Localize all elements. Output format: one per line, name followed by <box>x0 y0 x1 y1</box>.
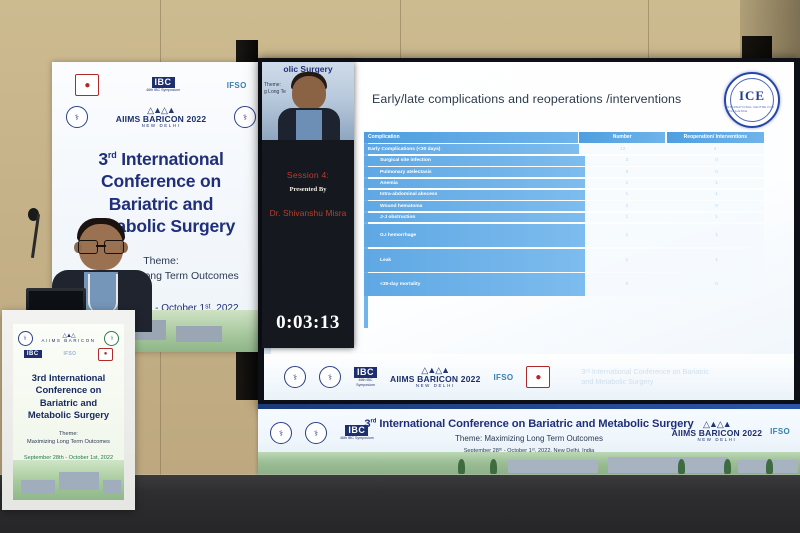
presenter-camera-feed: olic Surgery Theme: g Long Te <box>262 62 354 140</box>
aiims-logo-sub: NEW DELHI <box>142 124 181 129</box>
banner-right-logos: △▲△▲ AIIMS BARICON 2022 NEW DELHI IFSO <box>672 420 790 443</box>
speaker-glasses <box>78 240 124 252</box>
table-cell-reoperation: 0 <box>669 201 764 211</box>
table-cell-complication: Surgical site infection <box>364 156 585 166</box>
table-cell-complication: J-J obstruction <box>364 213 585 223</box>
presenter-head <box>292 76 326 110</box>
obesity-society-logo: ⚕ <box>284 366 306 388</box>
table-header-reoperation: Reoperation/ Interventions <box>667 132 764 143</box>
table-cell-complication: Pulmonary atelectasis <box>364 167 585 177</box>
table-cell-complication: <30-day mortality <box>364 273 585 296</box>
complications-table: Complication Number Reoperation/ Interve… <box>364 132 764 298</box>
table-row: <30-day mortality00 <box>364 273 764 296</box>
aiims-baricon-logo: △▲△▲ AIIMS BARICON 2022 NEW DELHI <box>390 366 481 389</box>
table-cell-reoperation: 1 <box>669 249 764 272</box>
backdrop-logo-row-2: ⚕ △▲△▲ AIIMS BARICON 2022 NEW DELHI ⚕ <box>52 102 270 132</box>
table-cell-reoperation: 0 <box>669 167 764 177</box>
table-cell-reoperation: 0 <box>669 273 764 296</box>
table-cell-number: 1 <box>585 249 669 272</box>
podium-title: 3rd International Conference on Bariatri… <box>13 372 124 422</box>
table-row: Pulmonary atelectasis30 <box>364 167 764 177</box>
ossi-logo: ● <box>98 348 113 361</box>
obesity-society-logo: ⚕ <box>18 331 33 346</box>
session-timer: 0:03:13 <box>262 312 354 334</box>
laptop-screen <box>29 291 83 311</box>
table-cell-complication: Anemia <box>364 179 585 189</box>
podium-campus-photo <box>13 460 124 500</box>
ifso-logo: IFSO <box>770 427 790 436</box>
table-row: Early Complications (<30 days)124 <box>364 144 764 154</box>
table-header-complication: Complication <box>364 132 578 143</box>
table-row: Wound hematoma20 <box>364 201 764 211</box>
table-row: Anemia11 <box>364 179 764 189</box>
table-cell-complication: Early Complications (<30 days) <box>364 144 579 154</box>
slide-title: Early/late complications and reoperation… <box>372 92 752 106</box>
obesity-society-logo: ⚕ <box>66 106 88 128</box>
backdrop-title-l3: Bariatric and <box>109 194 213 214</box>
podium-title-l2: Conference on <box>36 384 102 395</box>
table-cell-number: 12 <box>579 144 666 154</box>
ibc-logo-sub2: Symposium <box>356 384 375 388</box>
table-cell-number: 1 <box>585 179 669 189</box>
table-cell-number: 2 <box>585 201 669 211</box>
ibc-logo: IBC <box>24 350 42 358</box>
bottom-stage-banner: ⚕ ⚕ IBC 46th IBC Symposium 3rd Internati… <box>258 404 800 476</box>
backdrop-logo-row-1: ● IBC 46th IBC Symposium IFSO <box>52 72 270 98</box>
slide-footer-text: 3ʳᵈ International Conference on Bariatri… <box>581 367 709 386</box>
slide-footer-line2: and Metabolic Surgery <box>581 377 653 386</box>
podium-title-l1: 3rd International <box>32 372 105 383</box>
aiims-emblem-logo: ⚕ <box>234 106 256 128</box>
table-cell-complication: Leak <box>364 249 585 272</box>
ibc-logo-text: IBC <box>354 367 377 378</box>
table-cell-reoperation: 0 <box>669 156 764 166</box>
overlay-theme-label: Theme: <box>264 82 281 88</box>
conference-hall-scene: ● IBC 46th IBC Symposium IFSO ⚕ △▲△▲ AII… <box>0 0 800 533</box>
projection-screen: ICE INTERNATIONAL CENTRE FOR EXCELLENCE … <box>258 58 800 408</box>
table-cell-reoperation: 1 <box>669 213 764 223</box>
aiims-baricon-logo: △▲△▲ AIIMS BARICON 2022 NEW DELHI <box>116 106 207 129</box>
table-cell-reoperation: 4 <box>666 144 764 154</box>
presenter-shirt <box>296 110 322 140</box>
table-cell-reoperation: 1 <box>669 190 764 200</box>
table-cell-complication: Intra-abdominal abscess <box>364 190 585 200</box>
table-header-row: Complication Number Reoperation/ Interve… <box>364 132 764 143</box>
table-cell-number: 3 <box>585 167 669 177</box>
table-cell-number: 1 <box>585 190 669 200</box>
podium-title-l3: Bariatric and <box>40 397 97 408</box>
ifso-logo: IFSO <box>494 373 514 382</box>
ifso-small-logo: IFSO <box>63 351 76 357</box>
podium: ⚕ △▲△ AIIMS BARICON ⚕ IBC IFSO ● 3rd Int… <box>2 310 135 510</box>
aiims-emblem-logo: ⚕ <box>319 366 341 388</box>
table-row: Intra-abdominal abscess11 <box>364 190 764 200</box>
table-cell-number: 1 <box>585 213 669 223</box>
overlay-camera-theme: Theme: g Long Te <box>264 82 286 96</box>
podium-theme: Theme: Maximizing Long Term Outcomes <box>13 430 124 446</box>
table-cell-complication: G.I hemorrhage <box>364 224 585 247</box>
backdrop-title-l1b: International <box>117 149 224 169</box>
banner-top-stripe <box>258 404 800 409</box>
presented-by-label: Presented By <box>262 186 354 193</box>
aiims-logo-sub: NEW DELHI <box>697 438 736 443</box>
ibc-logo-sub1: 46th IBC <box>359 379 373 383</box>
presenter-name: Dr. Shivanshu Misra <box>262 208 354 218</box>
ifso-logo: IFSO <box>227 81 247 90</box>
ibc-logo: IBC 46th IBC Symposium <box>146 77 180 93</box>
overlay-theme-text: g Long Te <box>264 89 286 95</box>
table-row: Surgical site infection30 <box>364 156 764 166</box>
slide-footer-line1: 3ʳᵈ International Conference on Bariatri… <box>581 367 709 376</box>
table-cell-complication: Wound hematoma <box>364 201 585 211</box>
table-cell-number: 3 <box>585 156 669 166</box>
table-cell-number: 1 <box>585 224 669 247</box>
backdrop-title-num: 3 <box>98 149 108 169</box>
aiims-logo-text: AIIMS BARICON <box>42 339 96 344</box>
podium-title-l4: Metabolic Surgery <box>28 409 109 420</box>
banner-campus-photo <box>258 452 800 476</box>
ibc-logo: IBC 46th IBC Symposium <box>354 367 377 387</box>
ibc-logo-text: IBC <box>152 77 175 88</box>
speaker-lanyard <box>88 274 118 312</box>
ossi-logo: ● <box>75 74 99 96</box>
table-header-number: Number <box>579 132 665 143</box>
table-row: G.I hemorrhage11 <box>364 224 764 247</box>
ossi-logo: ● <box>526 366 550 388</box>
aiims-baricon-logo: △▲△▲ AIIMS BARICON 2022 NEW DELHI <box>672 420 763 443</box>
table-cell-reoperation: 1 <box>669 224 764 247</box>
podium-theme-text: Maximizing Long Term Outcomes <box>27 439 110 445</box>
session-label: Session 4: <box>262 170 354 180</box>
podium-logo-row-1: ⚕ △▲△ AIIMS BARICON ⚕ <box>13 330 124 346</box>
ifso-logo: ⚕ <box>104 331 119 346</box>
ibc-logo-sub: 46th IBC Symposium <box>146 89 180 93</box>
ibc-logo-text: IBC <box>24 350 42 358</box>
table-row: J-J obstruction11 <box>364 213 764 223</box>
backdrop-title-l2: Conference on <box>101 171 221 191</box>
table-row: Leak11 <box>364 249 764 272</box>
podium-theme-label: Theme: <box>59 431 78 437</box>
banner-title-rest: International Conference on Bariatric an… <box>376 418 693 430</box>
aiims-baricon-logo: △▲△ AIIMS BARICON <box>42 333 96 344</box>
aiims-logo-sub: NEW DELHI <box>416 384 455 389</box>
slide-footer: ⚕ ⚕ IBC 46th IBC Symposium △▲△▲ AIIMS BA… <box>264 354 794 400</box>
presenter-video-overlay: olic Surgery Theme: g Long Te Session 4:… <box>262 62 354 348</box>
table-cell-number: 0 <box>585 273 669 296</box>
podium-sign: ⚕ △▲△ AIIMS BARICON ⚕ IBC IFSO ● 3rd Int… <box>13 324 124 500</box>
table-cell-reoperation: 1 <box>669 179 764 189</box>
backdrop-title-sup: rd <box>108 150 117 160</box>
podium-logo-row-2: IBC IFSO ● <box>13 346 124 362</box>
